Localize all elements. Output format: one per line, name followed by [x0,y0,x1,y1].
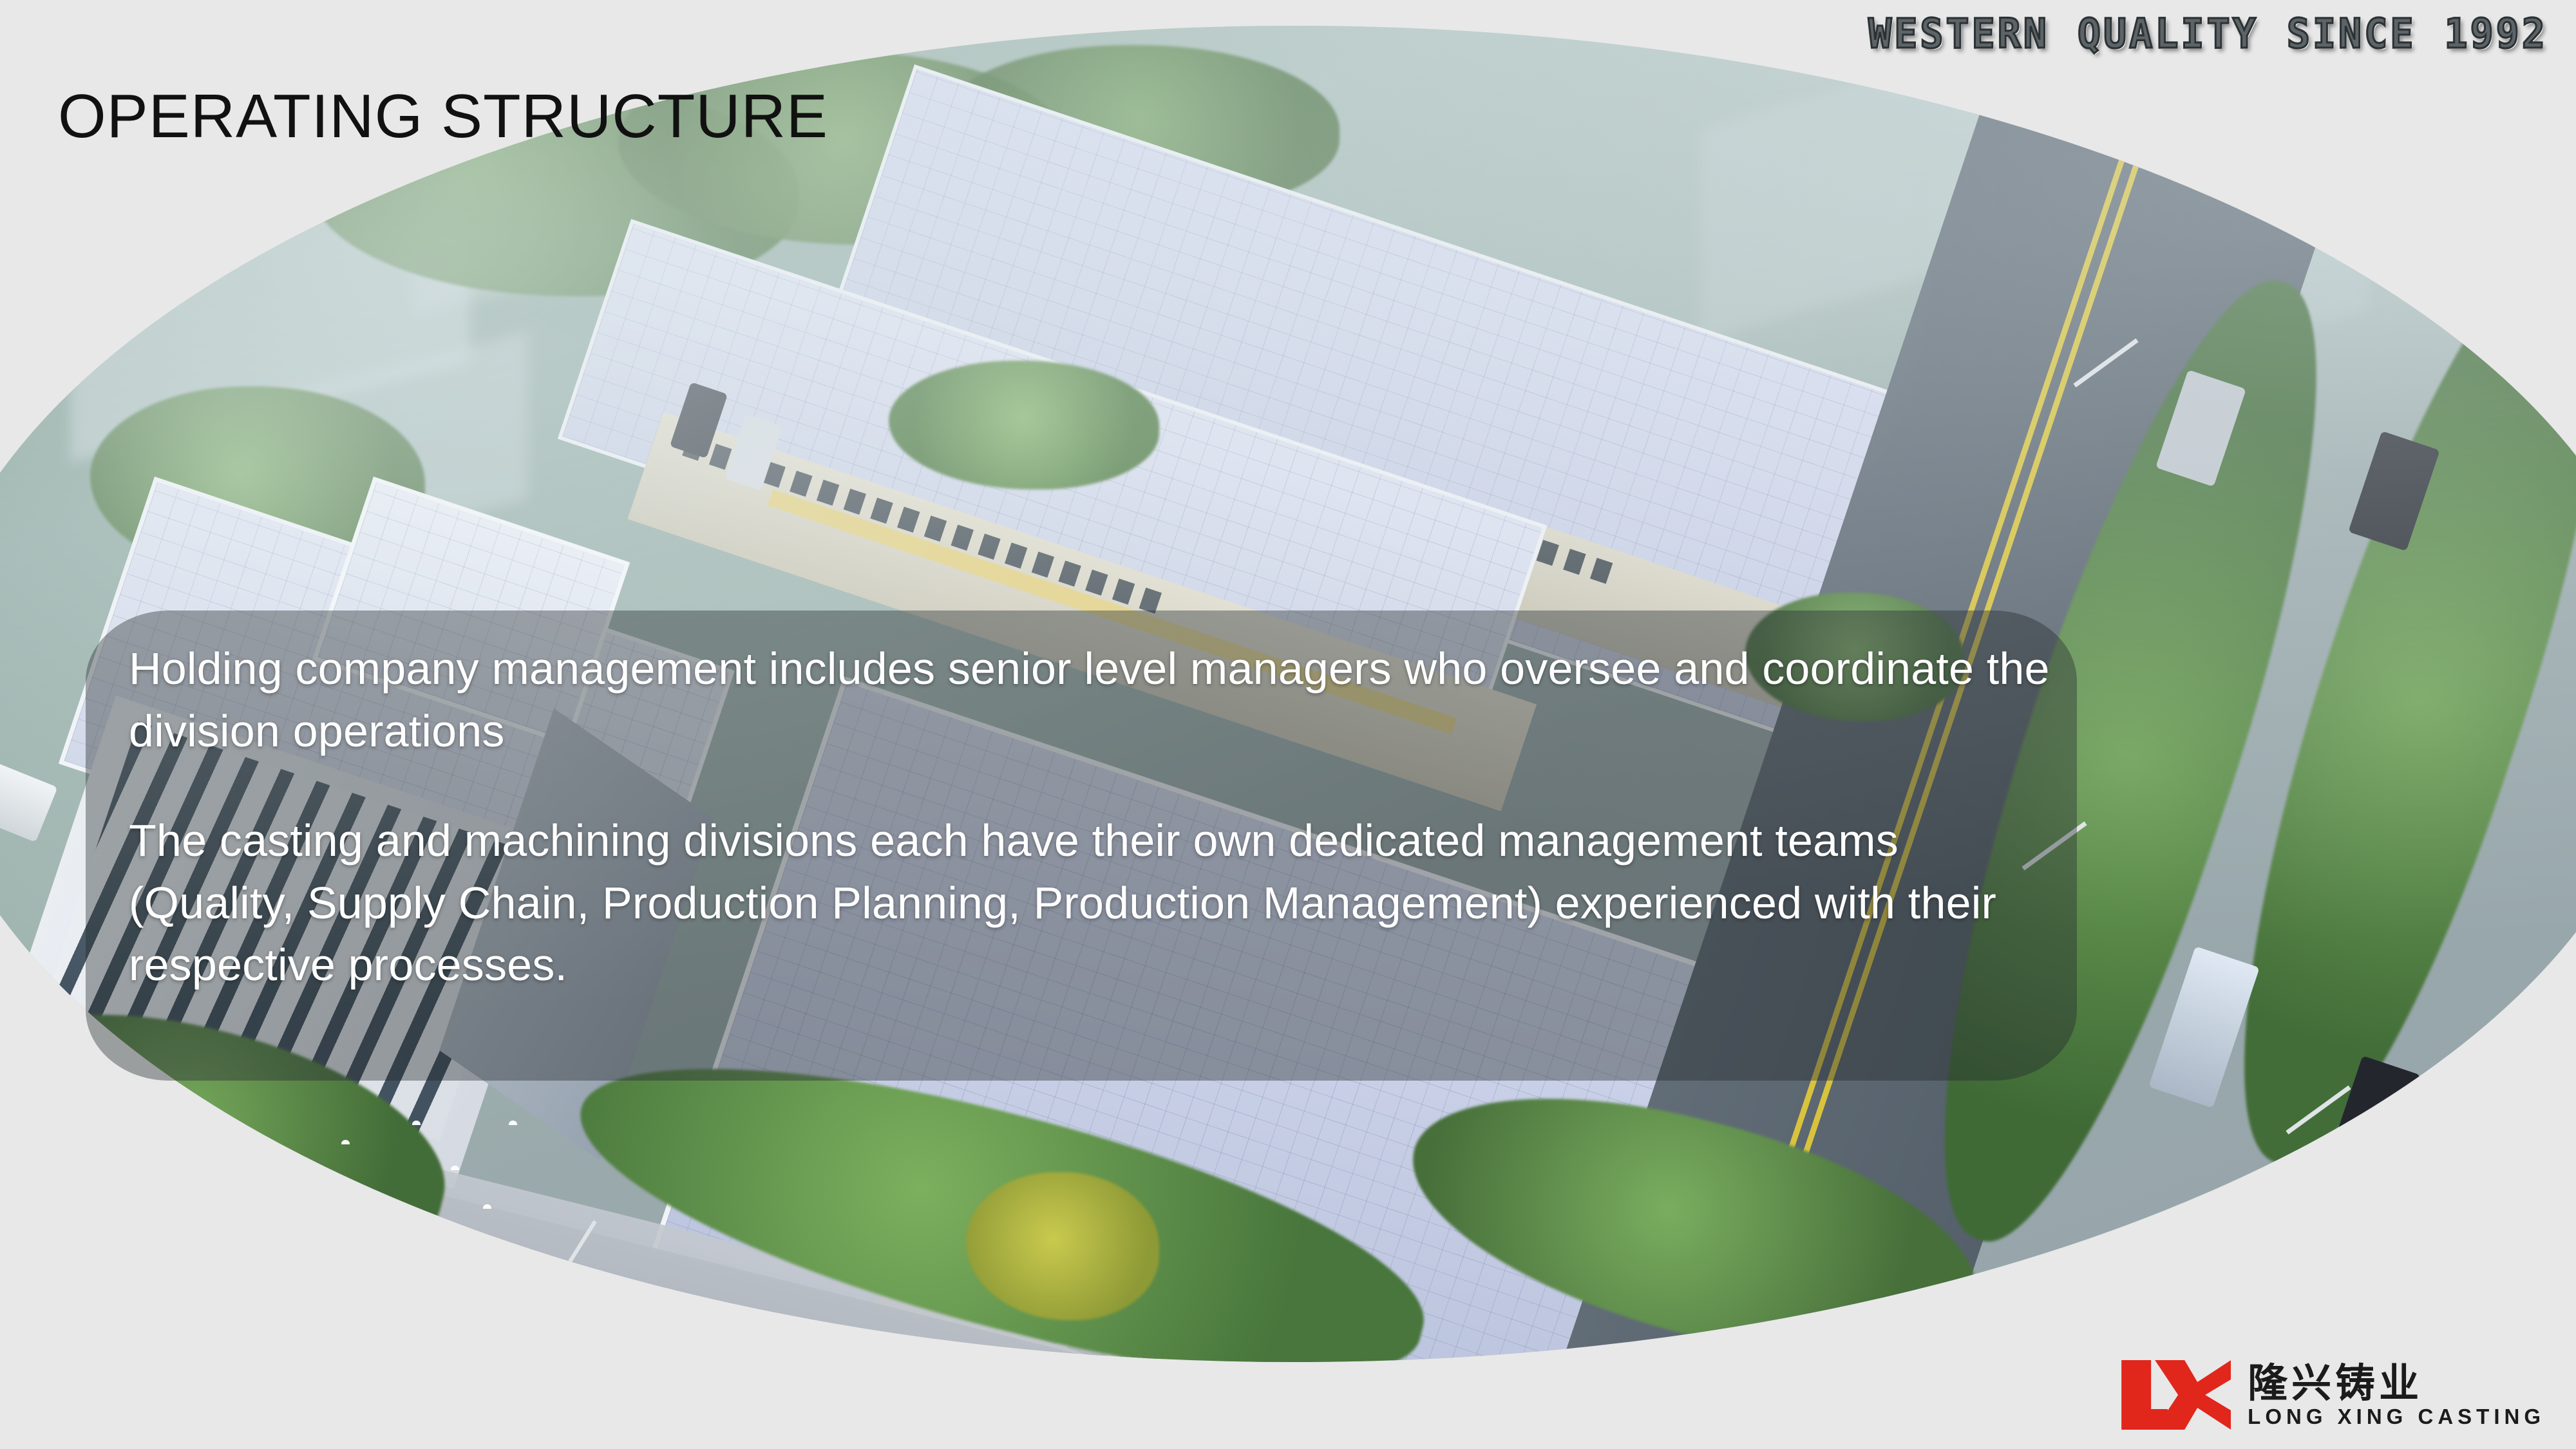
brand-banner: WESTERN QUALITY SINCE 1992 [1868,12,2548,57]
car-highway-4 [2084,1300,2175,1362]
page-title: OPERATING STRUCTURE [58,81,828,152]
body-paragraph-1: Holding company management includes seni… [129,638,2061,762]
slide-canvas: Holding company management includes seni… [0,0,2576,1449]
bus-left [0,737,58,842]
company-logo: 隆兴铸业 LONG XING CASTING [2121,1360,2545,1430]
brand-word-1992: 1992 [2445,10,2548,58]
brand-word-since: SINCE [2287,10,2416,58]
logo-chinese-name: 隆兴铸业 [2248,1363,2545,1403]
logo-english-name: LONG XING CASTING [2248,1406,2545,1427]
body-paragraph-2: The casting and machining divisions each… [129,810,2061,996]
body-text-block: Holding company management includes seni… [129,638,2061,996]
brand-word-western: WESTERN [1868,10,2049,58]
brand-word-quality: QUALITY [2078,10,2259,58]
lx-monogram-icon [2121,1360,2231,1430]
